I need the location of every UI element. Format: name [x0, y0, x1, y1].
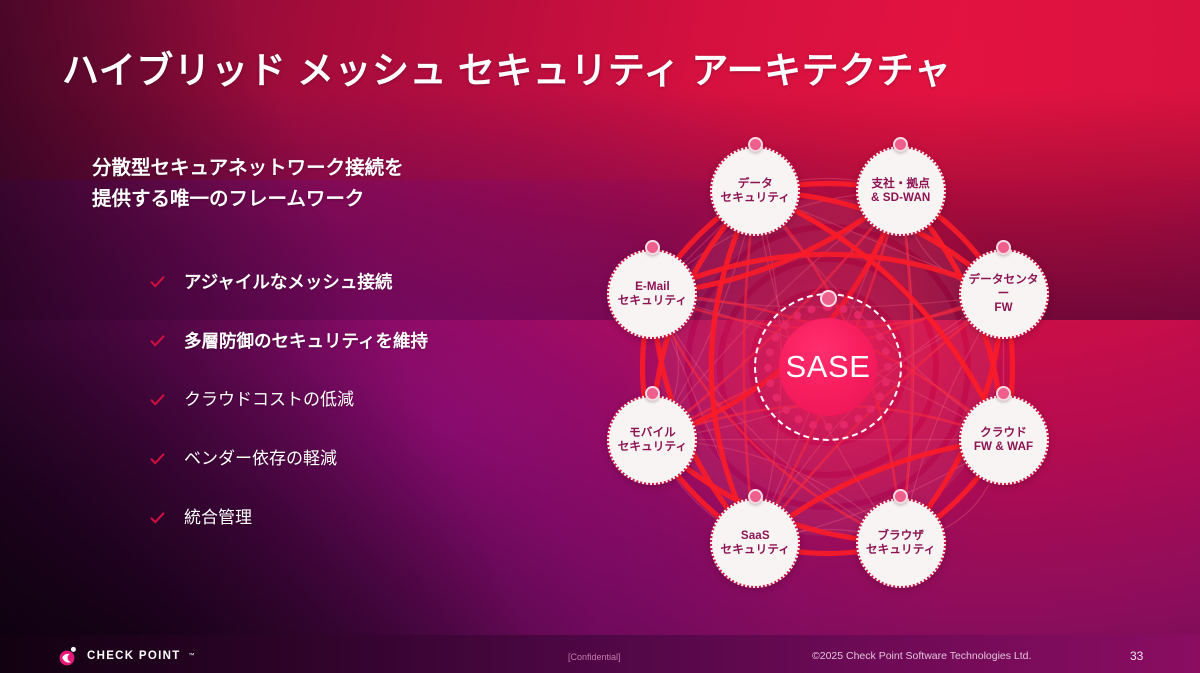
benefit-label: 統合管理 — [184, 507, 252, 529]
diagram-node-branch-sdwan[interactable]: 支社・拠点 & SD-WAN — [856, 146, 946, 236]
hub-marker-dot — [820, 290, 837, 307]
diagram-node-label: ブラウザ セキュリティ — [863, 529, 938, 557]
hub-sase-circle[interactable]: SASE — [779, 318, 877, 416]
check-icon — [150, 511, 165, 526]
benefit-label: クラウドコストの低減 — [184, 389, 354, 411]
diagram-node-saas-security[interactable]: SaaS セキュリティ — [710, 498, 800, 588]
benefit-item: 多層防御のセキュリティを維持 — [150, 327, 550, 354]
diagram-node-label: SaaS セキュリティ — [718, 529, 793, 557]
diagram-node-datacenter-fw[interactable]: データセンター FW — [959, 249, 1049, 339]
diagram-node-marker-dot — [893, 489, 908, 504]
benefit-item: アジャイルなメッシュ接続 — [150, 268, 550, 295]
diagram-node-browser-security[interactable]: ブラウザ セキュリティ — [856, 498, 946, 588]
check-point-logo-icon — [58, 645, 79, 666]
diagram-node-label: 支社・拠点 & SD-WAN — [868, 177, 933, 205]
diagram-node-marker-dot — [996, 386, 1011, 401]
check-point-logo: CHECK POINT ™ — [58, 645, 195, 666]
hybrid-mesh-diagram: データ セキュリティ支社・拠点 & SD-WANデータセンター FWクラウド F… — [570, 115, 1090, 615]
diagram-node-marker-dot — [748, 489, 763, 504]
check-icon — [150, 275, 165, 290]
diagram-node-label: E-Mail セキュリティ — [615, 280, 690, 308]
benefit-item: ベンダー依存の軽減 — [150, 445, 550, 472]
check-point-logo-text: CHECK POINT — [87, 650, 181, 662]
page-title: ハイブリッド メッシュ セキュリティ アーキテクチャ — [62, 40, 951, 94]
trademark-symbol: ™ — [189, 653, 195, 659]
diagram-node-label: データ セキュリティ — [718, 177, 793, 205]
copyright-text: ©2025 Check Point Software Technologies … — [812, 650, 1031, 662]
benefit-label: 多層防御のセキュリティを維持 — [184, 330, 428, 352]
diagram-node-mobile-security[interactable]: モバイル セキュリティ — [607, 395, 697, 485]
check-icon — [150, 393, 165, 408]
diagram-node-label: データセンター FW — [961, 273, 1047, 315]
diagram-node-cloud-fw-waf[interactable]: クラウド FW & WAF — [959, 395, 1049, 485]
check-icon — [150, 334, 165, 349]
diagram-node-marker-dot — [645, 386, 660, 401]
diagram-node-label: クラウド FW & WAF — [971, 426, 1036, 454]
benefit-item: クラウドコストの低減 — [150, 386, 550, 413]
slide-canvas: ハイブリッド メッシュ セキュリティ アーキテクチャ 分散型セキュアネットワーク… — [0, 0, 1200, 673]
check-icon — [150, 452, 165, 467]
benefit-label: アジャイルなメッシュ接続 — [184, 271, 392, 293]
benefit-label: ベンダー依存の軽減 — [184, 448, 337, 470]
benefit-item: 統合管理 — [150, 504, 550, 531]
diagram-node-label: モバイル セキュリティ — [615, 426, 690, 454]
hub-label: SASE — [785, 349, 870, 385]
confidential-label: [Confidential] — [568, 652, 621, 662]
subheading: 分散型セキュアネットワーク接続を 提供する唯一のフレームワーク — [92, 153, 404, 215]
page-number: 33 — [1130, 649, 1143, 663]
benefits-list: アジャイルなメッシュ接続多層防御のセキュリティを維持クラウドコストの低減ベンダー… — [150, 268, 550, 563]
